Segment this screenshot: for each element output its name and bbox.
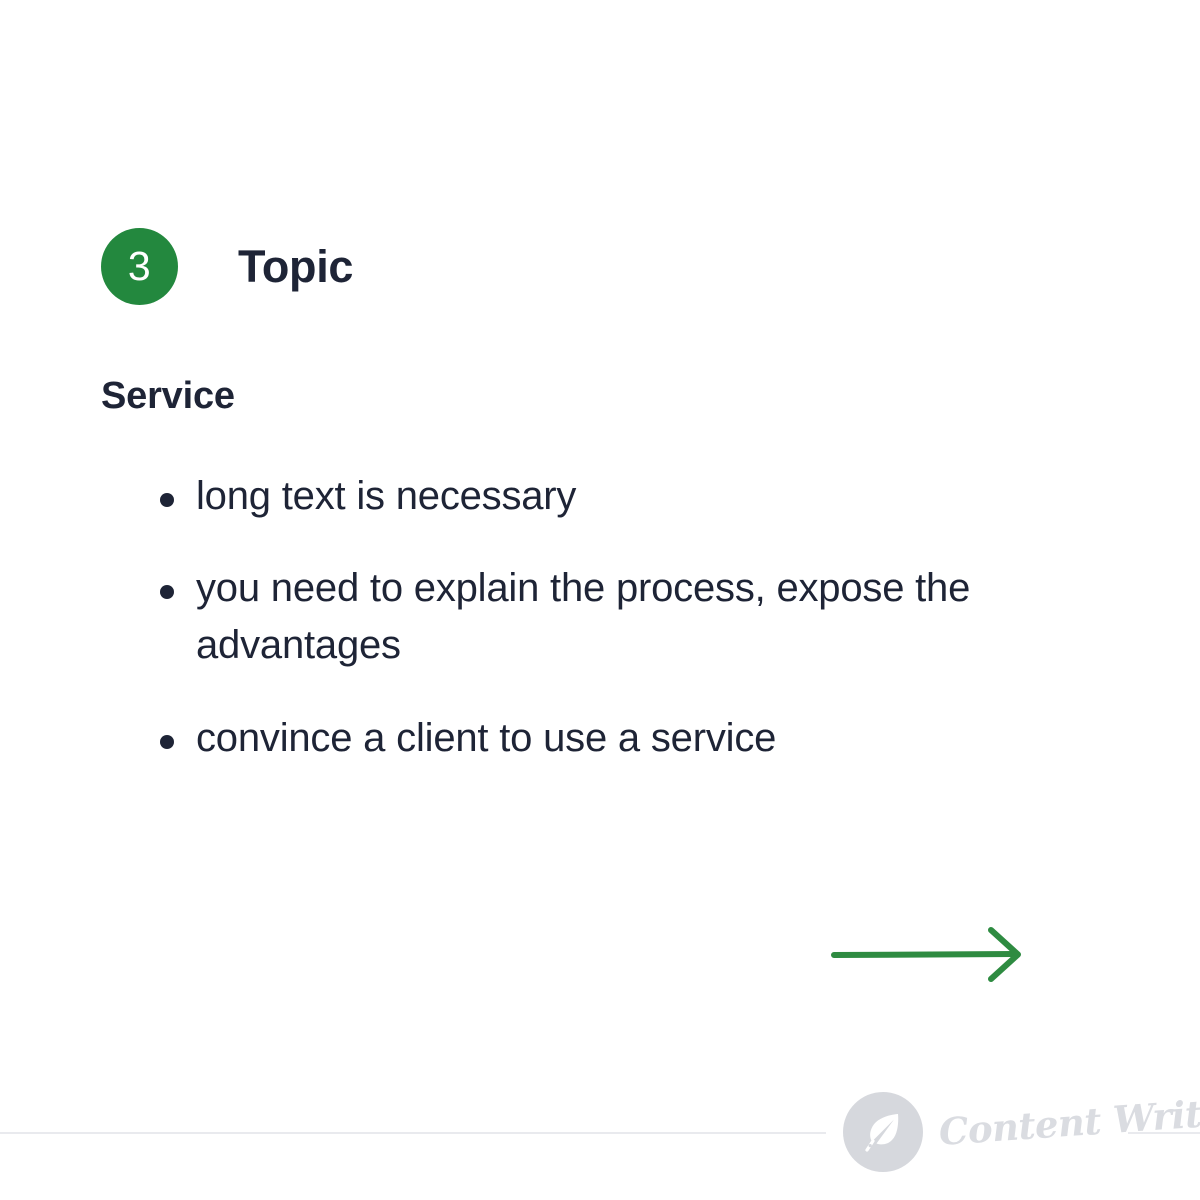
list-item-label: you need to explain the process, expose …	[196, 566, 970, 667]
slide-body: Service long text is necessary you need …	[101, 374, 1101, 767]
brand-name-label: Content Writer	[937, 1089, 1200, 1154]
next-slide-arrow[interactable]	[828, 920, 1038, 990]
bullet-list: long text is necessary you need to expla…	[101, 468, 1101, 767]
brand-logo: Content Writer	[843, 1092, 1200, 1172]
arrow-right-icon	[828, 920, 1038, 990]
bullet-dot-icon	[160, 585, 174, 599]
section-subheading: Service	[101, 374, 1101, 420]
step-number-label: 3	[128, 246, 151, 287]
list-item-label: convince a client to use a service	[196, 716, 776, 760]
slide-header: 3 Topic	[101, 228, 353, 305]
bullet-dot-icon	[160, 493, 174, 507]
brand-mark-circle	[843, 1092, 923, 1172]
slide-canvas: 3 Topic Service long text is necessary y…	[0, 0, 1200, 1200]
footer-divider-left	[0, 1132, 826, 1134]
slide-footer: Content Writer	[0, 1092, 1200, 1178]
list-item: convince a client to use a service	[101, 710, 1101, 767]
list-item-label: long text is necessary	[196, 474, 576, 518]
list-item: you need to explain the process, expose …	[101, 560, 1101, 674]
list-item: long text is necessary	[101, 468, 1101, 525]
feather-quill-icon	[857, 1106, 909, 1158]
page-title: Topic	[238, 241, 353, 293]
step-number-badge: 3	[101, 228, 178, 305]
bullet-dot-icon	[160, 735, 174, 749]
